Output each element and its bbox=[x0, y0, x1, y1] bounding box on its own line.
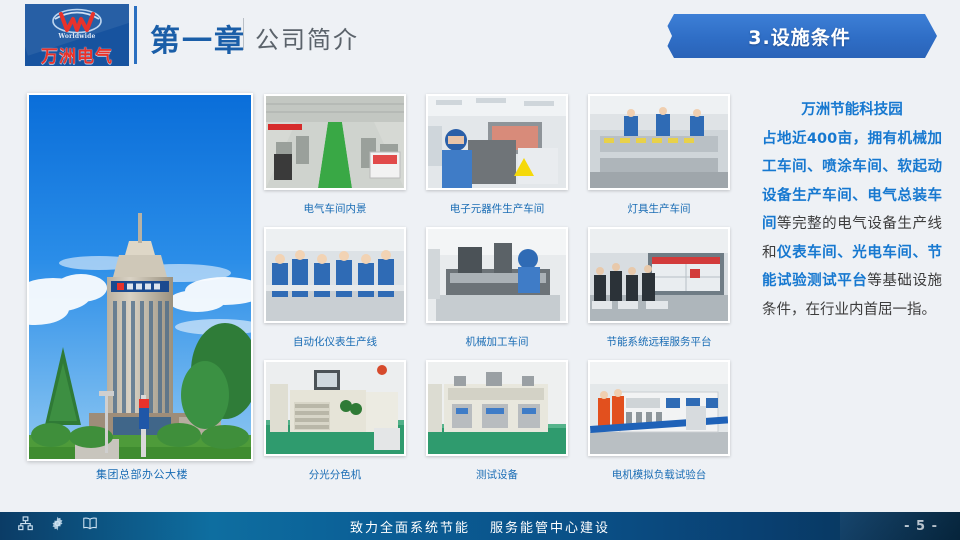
thumbnail-6 bbox=[264, 360, 406, 456]
thumbnail-caption-0: 电气车间内景 bbox=[259, 201, 411, 216]
thumbnail-8 bbox=[588, 360, 730, 456]
thumbnail-5 bbox=[588, 227, 730, 323]
section-badge-shape: 3.设施条件 bbox=[662, 14, 937, 58]
footer-slogan: 致力全面系统节能 服务能管中心建设 bbox=[0, 512, 960, 540]
thumbnail-caption-1: 电子元器件生产车间 bbox=[421, 201, 573, 216]
section-badge-label: 3.设施条件 bbox=[748, 23, 850, 50]
thumbnail-7 bbox=[426, 360, 568, 456]
logo-latin-name: Worldwide bbox=[25, 33, 129, 40]
thumbnail-caption-4: 机械加工车间 bbox=[421, 334, 573, 349]
thumbnail-caption-3: 自动化仪表生产线 bbox=[259, 334, 411, 349]
thumbnail-2 bbox=[588, 94, 730, 190]
slide-header: Worldwide 万洲电气 第一章 公司简介 3.设施条件 bbox=[0, 0, 960, 78]
slide-footer: 致力全面系统节能 服务能管中心建设 - 5 - bbox=[0, 512, 960, 540]
header-accent-bar bbox=[134, 6, 137, 64]
footer-slogan-left: 致力全面系统节能 bbox=[350, 517, 470, 536]
page-number: - 5 - bbox=[904, 512, 938, 540]
chapter-subtitle: 公司简介 bbox=[255, 20, 359, 55]
thumbnail-3 bbox=[264, 227, 406, 323]
thumbnail-4 bbox=[426, 227, 568, 323]
thumbnail-caption-6: 分光分色机 bbox=[259, 467, 411, 482]
company-logo: Worldwide 万洲电气 bbox=[25, 4, 129, 66]
section-badge: 3.设施条件 bbox=[662, 14, 937, 58]
thumbnail-caption-5: 节能系统远程服务平台 bbox=[583, 334, 735, 349]
feature-photo-caption: 集团总部办公大楼 bbox=[27, 466, 257, 482]
thumbnail-caption-8: 电机模拟负载试验台 bbox=[583, 467, 735, 482]
description-paragraph: 万洲节能科技园占地近400亩，拥有机械加工车间、喷涂车间、软起动设备生产车间、电… bbox=[762, 96, 942, 324]
thumbnail-1 bbox=[426, 94, 568, 190]
description-seg-1: 占地近400亩 bbox=[762, 131, 853, 147]
footer-slogan-right: 服务能管中心建设 bbox=[490, 517, 610, 536]
thumbnail-caption-7: 测试设备 bbox=[421, 467, 573, 482]
chapter-title-separator bbox=[243, 18, 244, 50]
description-title: 万洲节能科技园 bbox=[762, 96, 942, 125]
feature-photo-headquarters bbox=[27, 93, 253, 461]
footer-gap bbox=[0, 505, 960, 512]
thumbnail-0 bbox=[264, 94, 406, 190]
chapter-title: 第一章 bbox=[150, 16, 246, 60]
logo-cn-name: 万洲电气 bbox=[25, 42, 129, 66]
slide-root: Worldwide 万洲电气 第一章 公司简介 3.设施条件 bbox=[0, 0, 960, 540]
thumbnail-caption-2: 灯具生产车间 bbox=[583, 201, 735, 216]
